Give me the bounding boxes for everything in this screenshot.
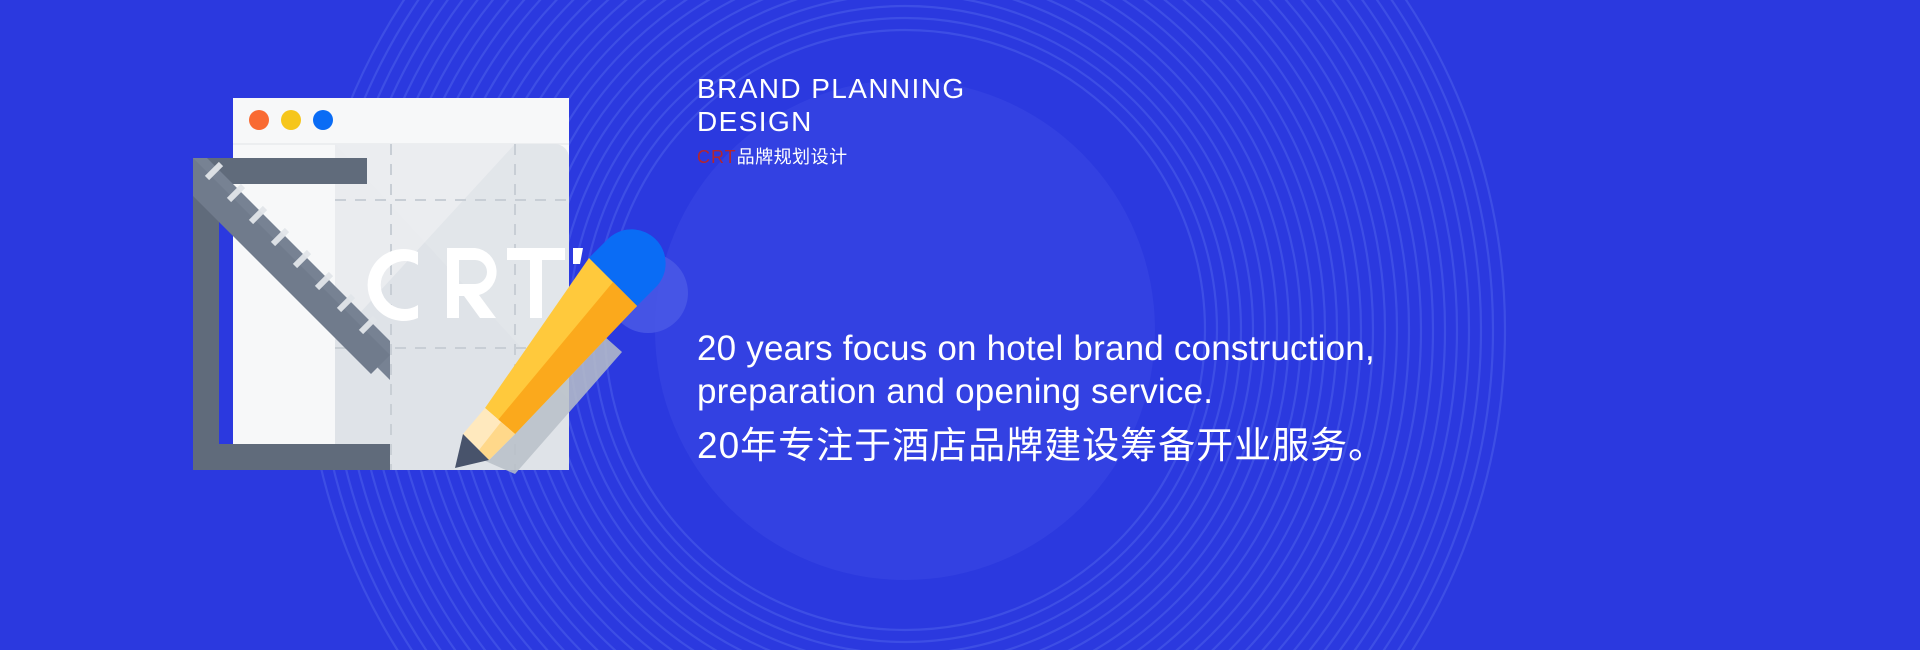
brand-banner: BRAND PLANNING DESIGN CRT品牌规划设计 20 years… [0,0,1920,650]
close-dot-icon[interactable] [249,110,269,130]
brand-headline-block: BRAND PLANNING DESIGN CRT品牌规划设计 [697,72,1397,169]
brand-title-cn: 品牌规划设计 [737,147,848,167]
brand-title-en: BRAND PLANNING DESIGN [697,72,1397,138]
tagline-en: 20 years focus on hotel brand constructi… [697,328,1797,413]
tagline-cn: 20年专注于酒店品牌建设筹备开业服务。 [697,424,1797,468]
brand-design-illustration [185,70,695,500]
brand-title-cn-row: CRT品牌规划设计 [697,147,1397,169]
tagline-block: 20 years focus on hotel brand constructi… [697,328,1797,469]
maximize-dot-icon[interactable] [313,110,333,130]
minimize-dot-icon[interactable] [281,110,301,130]
brand-title-cn-prefix: CRT [697,147,737,167]
